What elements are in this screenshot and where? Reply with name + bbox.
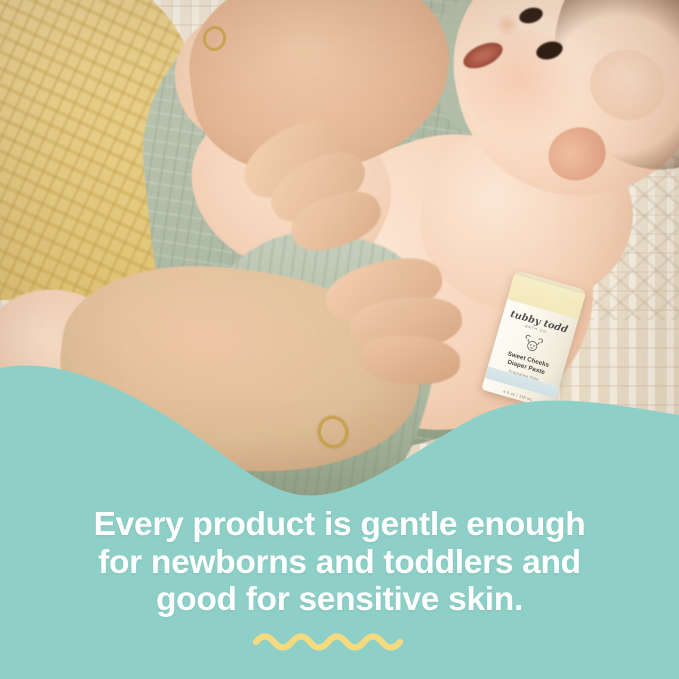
headline-line-1: Every product is gentle enough (0, 506, 679, 544)
headline-line-3: good for sensitive skin. (0, 581, 679, 619)
baby-nose (495, 14, 519, 36)
yellow-wavy-divider (250, 626, 430, 652)
headline-line-2: for newborns and toddlers and (0, 544, 679, 582)
promo-image-canvas: tubby todd BATH CO. Sweet C (0, 0, 679, 679)
headline-text-block: Every product is gentle enough for newbo… (0, 506, 679, 619)
